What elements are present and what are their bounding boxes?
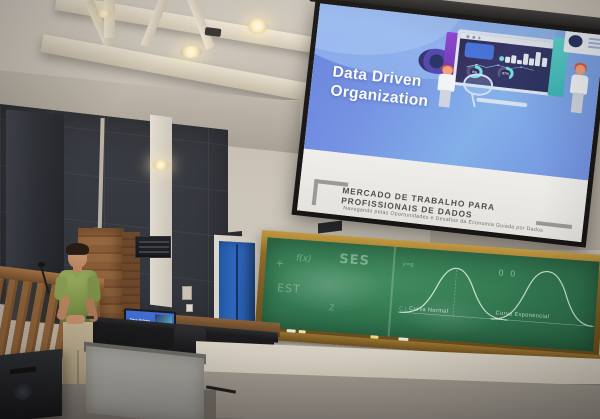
glasses-icon [68, 254, 86, 257]
projection-screen: 6% 87% [290, 0, 600, 260]
lecture-hall-photo: 6% 87% [0, 0, 600, 419]
chalk-note-formula: Z [329, 303, 335, 312]
wall-outlet [186, 304, 193, 312]
monitor-base [476, 98, 527, 107]
dashboard-bar [511, 55, 517, 64]
ceiling-downlight [96, 9, 112, 18]
chalk-piece[interactable] [299, 330, 306, 334]
truss-vertical-post [104, 0, 115, 38]
microphone-icon [38, 262, 45, 267]
dashboard-bar [517, 60, 523, 65]
speaker-grill [139, 241, 169, 255]
chalk-distribution-curves [395, 253, 599, 336]
person-legs [570, 92, 584, 113]
chalk-note-formula: f(x) [296, 254, 312, 265]
floor-speaker [0, 349, 62, 419]
browser-dot-icon [466, 35, 469, 38]
report-text-line [588, 42, 600, 45]
chalk-piece[interactable] [287, 329, 296, 333]
dashboard-bar [529, 58, 535, 66]
wall-fixture [182, 286, 192, 300]
magnifier-handle-icon [471, 93, 476, 108]
wristwatch [86, 316, 94, 319]
dashboard-bar [505, 57, 511, 64]
dashboard-tile [464, 42, 494, 60]
donut-percent-label: 87% [502, 71, 509, 76]
screen-bezel: 6% 87% [291, 0, 600, 248]
wall-mounted-speaker [135, 236, 171, 258]
chalk-note-lettering: SES [339, 252, 371, 269]
presenter-hands [66, 315, 85, 324]
person-legs [438, 90, 452, 108]
foreground-panel [86, 346, 204, 419]
wall-pillar-strip [150, 115, 172, 308]
presentation-slide: 6% 87% [297, 4, 600, 243]
ceiling-downlight [180, 46, 202, 58]
report-pie-icon [568, 34, 583, 48]
chalk-piece[interactable] [370, 335, 378, 339]
browser-dot-icon [478, 37, 481, 40]
report-text-line [589, 38, 600, 41]
chalk-note-plus: + [275, 258, 284, 270]
dashboard-indicator-dot [499, 56, 505, 62]
report-text-line [588, 46, 600, 49]
browser-dot-icon [472, 36, 475, 39]
ceiling-downlight [152, 160, 169, 170]
illustration-person [432, 65, 462, 107]
illustration-person [564, 64, 595, 113]
dashboard-bar [535, 52, 542, 67]
eraser[interactable] [398, 337, 408, 341]
dashboard-bar [541, 57, 547, 67]
ceiling-downlight [247, 18, 268, 34]
data-dashboard-illustration: 6% 87% [409, 16, 600, 126]
illustration-report-card [563, 29, 600, 57]
donut-percent-label: 6% [472, 70, 477, 75]
chalk-note-formula: EST [277, 281, 302, 296]
